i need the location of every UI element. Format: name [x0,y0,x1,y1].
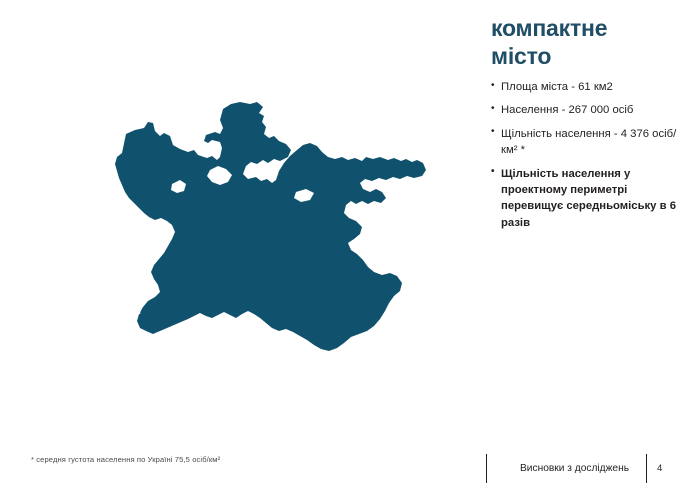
footer-bar: Висновки з досліджень 4 [486,452,662,484]
fact-population: Населення - 267 000 осіб [501,104,633,116]
facts-list: Площа міста - 61 км2 Населення - 267 000… [491,79,691,231]
footnote: * середня густота населення по Україні 7… [31,455,220,464]
footer-section-label: Висновки з досліджень [487,463,646,474]
slide-root: компактне місто Площа міста - 61 км2 Нас… [0,0,700,494]
text-column: компактне місто Площа міста - 61 км2 Нас… [491,14,691,238]
fact-density: Щільність населення - 4 376 осіб/км² * [501,128,676,156]
fact-density-comparison: Щільність населення у проектному перимет… [501,168,676,229]
list-item: Населення - 267 000 осіб [491,102,691,118]
city-map [60,100,440,375]
city-boundary-path [115,102,426,351]
list-item: Площа міста - 61 км2 [491,79,691,95]
page-title-line-2: місто [491,43,551,69]
page-number: 4 [647,463,662,474]
page-title-line-1: компактне [491,15,607,41]
page-title: компактне місто [491,14,691,70]
fact-area: Площа міста - 61 км2 [501,81,613,93]
list-item: Щільність населення - 4 376 осіб/км² * [491,126,691,159]
list-item: Щільність населення у проектному перимет… [491,166,691,232]
footnote-text: * середня густота населення по Україні 7… [31,455,220,464]
